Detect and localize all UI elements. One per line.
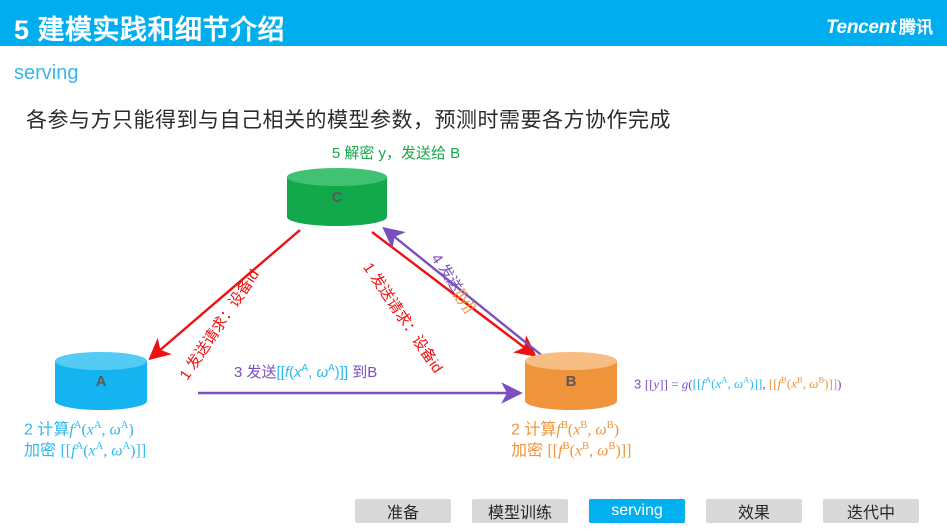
- tab-prepare[interactable]: 准备: [355, 499, 451, 523]
- tab-serving[interactable]: serving: [589, 499, 685, 523]
- note-node-a-line2: 加密 [[fA(xA, ωA)]]: [24, 440, 146, 461]
- bottom-tab-strip: 准备 模型训练 serving 效果 迭代中: [355, 499, 919, 523]
- note-node-b: 2 计算fB(xB, ωB) 加密 [[fB(xB, ωB)]]: [511, 419, 631, 462]
- node-c-cylinder: C: [287, 168, 387, 226]
- note-step5-decrypt: 5 解密 y，发送给 B: [332, 144, 460, 164]
- note-node-a: 2 计算fA(xA, ωA) 加密 [[fA(xA, ωA)]]: [24, 419, 146, 462]
- tab-iterating[interactable]: 迭代中: [823, 499, 919, 523]
- label-request-c-to-b: 1 发送请求：设备id: [359, 258, 449, 377]
- section-label: serving: [14, 62, 78, 85]
- note-node-a-line1: 2 计算fA(xA, ωA): [24, 419, 146, 440]
- node-b-label: B: [525, 352, 617, 410]
- node-b-cylinder: B: [525, 352, 617, 410]
- node-a-label: A: [55, 352, 147, 410]
- tencent-logo: Tencent腾讯: [826, 13, 933, 39]
- logo-text-cn: 腾讯: [899, 18, 933, 37]
- header-underline: [0, 46, 947, 49]
- page-title: 5 建模实践和细节介绍: [14, 8, 285, 47]
- label-send-a-to-b: 3 发送[[f(xA, ωA)]] 到B: [234, 361, 377, 382]
- note-node-b-line2: 加密 [[fB(xB, ωB)]]: [511, 440, 631, 461]
- tab-model-training[interactable]: 模型训练: [472, 499, 568, 523]
- note-result-formula: 3 [[y]] = g([[fA(xA, ωA)]], [[fB(xB, ωB)…: [634, 375, 842, 392]
- label-send-encrypted-y: 4 发送[[y]]: [427, 249, 482, 316]
- label-send-ab-suffix: 到B: [352, 364, 377, 381]
- node-c-label: C: [287, 168, 387, 226]
- node-a-cylinder: A: [55, 352, 147, 410]
- note-node-b-line1: 2 计算fB(xB, ωB): [511, 419, 631, 440]
- slide-subtitle: 各参与方只能得到与自己相关的模型参数，预测时需要各方协作完成: [26, 104, 671, 134]
- logo-text-en: Tencent: [826, 17, 896, 38]
- tab-effect[interactable]: 效果: [706, 499, 802, 523]
- label-send-ab-prefix: 3 发送: [234, 364, 277, 381]
